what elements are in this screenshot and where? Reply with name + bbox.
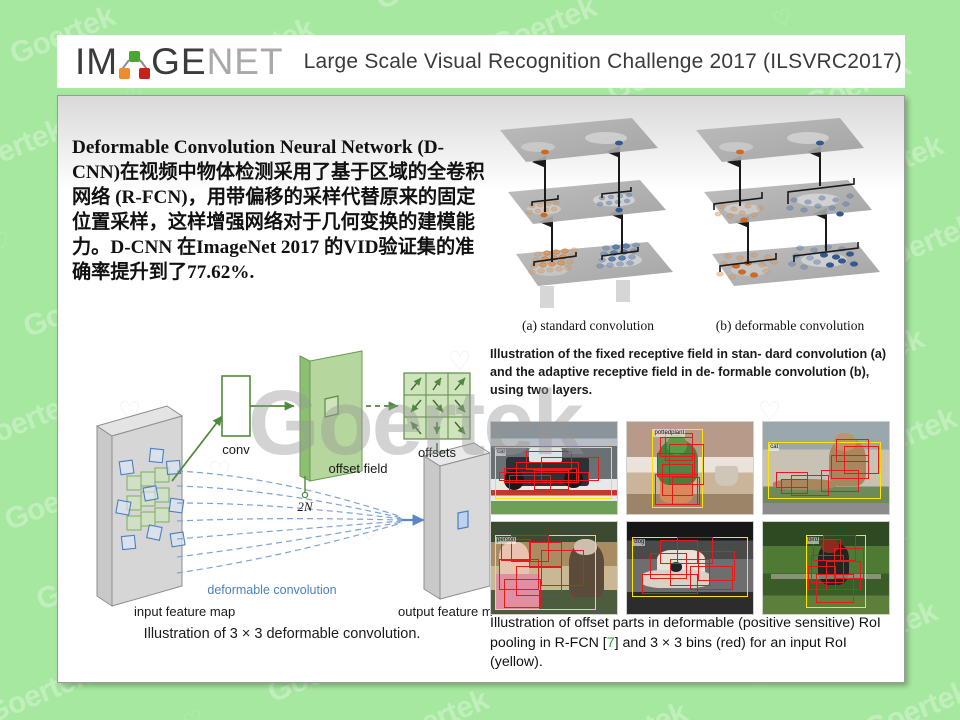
imagenet-tree-icon [119,50,150,80]
deformable-conv-svg: conv offset field offsets 2N deformable … [72,321,492,621]
watermark-text: Goertek [852,0,960,8]
deformable-convolution-stack [696,118,880,286]
deformable-conv-fan [177,471,402,573]
photo-label: person [496,537,516,544]
watermark-text: Goertek [577,696,692,720]
body-text: Deformable Convolution Neural Network (D… [72,136,488,286]
deformable-conv-diagram: conv offset field offsets 2N deformable … [72,321,492,621]
input-feature-map-slab [97,406,185,606]
logo-text-im: IM [75,43,118,80]
receptive-field-svg [488,114,892,319]
logo-text-net: NET [207,43,284,80]
watermark-text: Goertek [379,683,494,720]
citation-ref: 7 [607,635,615,651]
photo-label: pottedplant [653,430,685,437]
output-feature-map-slab [424,443,490,599]
watermark-row: ♡GoertekGoertek♡GoertekGoertek♡GoertekGo… [91,702,960,720]
watermark-text: Goertek [371,0,486,17]
left-diagram-caption: Illustration of 3 × 3 deformable convolu… [72,626,492,642]
photo-person: person [490,521,618,615]
watermark-heart-icon: ♡ [172,0,203,5]
subcaption-row: (a) standard convolution (b) deformable … [488,318,892,334]
photo-label: dog [633,539,645,546]
photo-bird: bird [762,521,890,615]
watermark-heart-icon: ♡ [180,705,211,720]
header-bar: IM GE NET Large Scale Visual Recognition… [57,35,905,88]
page-title: Large Scale Visual Recognition Challenge… [304,50,902,74]
photo-cat: cat [762,421,890,515]
roi-photo-grid: car pottedplant [490,421,890,615]
label-input-feature-map: input feature map [134,604,235,619]
imagenet-logo: IM GE NET [75,43,284,80]
photo-car: car [490,421,618,515]
label-offsets: offsets [418,445,457,460]
photo-pottedplant: pottedplant [626,421,754,515]
receptive-field-caption: Illustration of the fixed receptive fiel… [490,346,890,400]
logo-text-ge: GE [151,43,206,80]
photo-dog: dog [626,521,754,615]
subcaption-deformable-convolution: (b) deformable convolution [688,318,892,334]
slide-stage: GoertekGoertek♡GoertekGoertek♡GoertekGoe… [0,0,960,720]
receptive-field-diagram [488,114,892,319]
watermark-heart-icon: ♡ [0,226,18,265]
standard-convolution-stack [500,118,673,308]
label-conv: conv [222,442,250,457]
roi-pooling-caption: Illustration of offset parts in deformab… [490,614,895,673]
label-offset-field: offset field [328,461,387,476]
content-panel: ♡ ♡ ♡ ♡ ♡ Goertek Deformable Convolution… [57,95,905,683]
label-output-feature-map: output feature map [398,604,492,619]
photo-label: cat [769,444,779,451]
subcaption-standard-convolution: (a) standard convolution [488,318,688,334]
photo-label: car [496,449,506,456]
photo-label: bird [807,537,819,544]
label-2n: 2N [297,499,314,514]
label-deformable-convolution: deformable convolution [207,583,336,597]
left-column: Deformable Convolution Neural Network (D… [72,136,492,286]
conv-box [222,376,250,436]
